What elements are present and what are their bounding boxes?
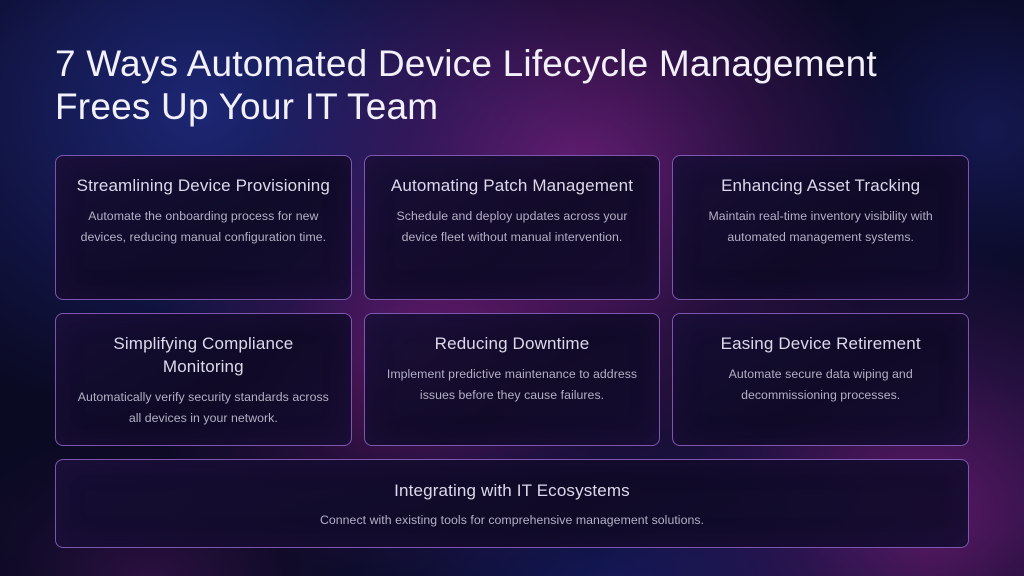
feature-card-easing-device-retirement[interactable]: Easing Device Retirement Automate secure… [672,313,969,446]
feature-card-title: Streamlining Device Provisioning [72,174,335,197]
feature-card-description: Automatically verify security standards … [72,387,335,429]
feature-card-title: Automating Patch Management [381,174,644,197]
feature-card-title: Integrating with IT Ecosystems [72,479,952,502]
feature-card-title: Easing Device Retirement [689,332,952,355]
feature-card-description: Automate secure data wiping and decommis… [689,364,952,406]
feature-card-simplifying-compliance-monitoring[interactable]: Simplifying Compliance Monitoring Automa… [55,313,352,446]
feature-card-integrating-with-it-ecosystems[interactable]: Integrating with IT Ecosystems Connect w… [55,459,969,548]
feature-card-title: Simplifying Compliance Monitoring [72,332,335,378]
feature-card-reducing-downtime[interactable]: Reducing Downtime Implement predictive m… [364,313,661,446]
cards-row-1: Streamlining Device Provisioning Automat… [55,155,969,300]
feature-card-description: Connect with existing tools for comprehe… [72,510,952,531]
feature-card-description: Implement predictive maintenance to addr… [381,364,644,406]
cards-row-3: Integrating with IT Ecosystems Connect w… [55,459,969,548]
feature-card-automating-patch-management[interactable]: Automating Patch Management Schedule and… [364,155,661,300]
page-title: 7 Ways Automated Device Lifecycle Manage… [55,42,935,128]
feature-card-description: Automate the onboarding process for new … [72,206,335,248]
feature-card-title: Reducing Downtime [381,332,644,355]
cards-row-2: Simplifying Compliance Monitoring Automa… [55,313,969,446]
slide-canvas: 7 Ways Automated Device Lifecycle Manage… [0,0,1024,576]
feature-card-description: Maintain real-time inventory visibility … [689,206,952,248]
feature-card-title: Enhancing Asset Tracking [689,174,952,197]
feature-card-enhancing-asset-tracking[interactable]: Enhancing Asset Tracking Maintain real-t… [672,155,969,300]
cards-grid: Streamlining Device Provisioning Automat… [55,155,969,561]
feature-card-streamlining-device-provisioning[interactable]: Streamlining Device Provisioning Automat… [55,155,352,300]
feature-card-description: Schedule and deploy updates across your … [381,206,644,248]
